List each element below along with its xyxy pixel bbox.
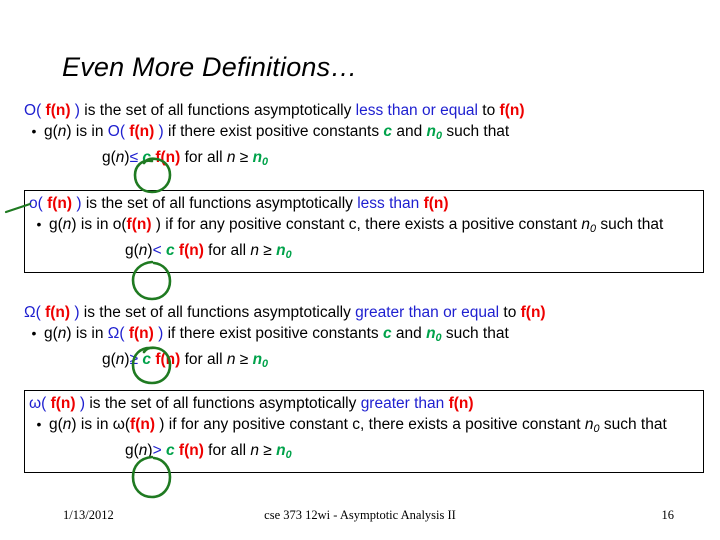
formula-coefficient: c: [166, 242, 175, 259]
formula-operator: ≤: [130, 149, 139, 166]
is-in-text: ) is in: [66, 123, 107, 140]
formula-forall-op: ≥: [235, 351, 252, 368]
constant-n0: n0: [426, 325, 442, 342]
is-in-text: ) is in o(: [71, 216, 126, 233]
headline-tail-text: to: [478, 102, 500, 119]
paren-close: ): [76, 395, 90, 412]
definition-bullet-big-o: • g(n) is in O( f(n) ) if there exist po…: [24, 121, 704, 147]
function-arg: f(n): [129, 123, 154, 140]
condition-text: if there exist positive constants: [168, 123, 383, 140]
constant-n0: n0: [585, 416, 600, 433]
formula-forall-op: ≥: [259, 442, 276, 459]
footer-page-number: 16: [662, 508, 675, 523]
notation-symbol-big-omega: Ω: [24, 304, 36, 321]
headline-lead-text: is the set of all functions asymptotical…: [84, 304, 355, 321]
bullet-marker: •: [24, 121, 44, 142]
bullet-body: g(n) is in o(f(n) ) if for any positive …: [49, 214, 699, 240]
definition-headline-big-o: O( f(n) ) is the set of all functions as…: [24, 100, 704, 121]
formula-forall-op: ≥: [235, 149, 252, 166]
formula-forall-text: for all: [204, 442, 251, 459]
paren-open: (: [36, 102, 45, 119]
function-arg-tail: f(n): [424, 195, 449, 212]
formula-coefficient: c: [142, 149, 151, 166]
function-arg: f(n): [130, 416, 155, 433]
constant-n0-base: n: [426, 325, 435, 342]
constant-n0-base: n: [581, 216, 590, 233]
headline-tail-text: to: [499, 304, 521, 321]
footer-course-title: cse 373 12wi - Asymptotic Analysis II: [0, 508, 720, 523]
formula-bound-subscript: 0: [262, 358, 268, 370]
paren-close: ): [70, 102, 84, 119]
formula-coefficient: c: [166, 442, 175, 459]
such-that-text: such that: [442, 123, 509, 140]
paren-close: ): [152, 216, 166, 233]
condition-text: if for any positive constant c, there ex…: [165, 216, 581, 233]
such-that-text: such that: [600, 416, 667, 433]
definition-headline-little-omega: ω( f(n) ) is the set of all functions as…: [29, 393, 699, 414]
formula-operator: >: [153, 442, 162, 459]
constant-n0: n0: [581, 216, 596, 233]
bullet-marker: •: [29, 214, 49, 235]
headline-lead-text: is the set of all functions asymptotical…: [89, 395, 360, 412]
such-that-text: such that: [596, 216, 663, 233]
slide-footer: 1/13/2012 cse 373 12wi - Asymptotic Anal…: [0, 508, 720, 530]
definition-bullet-little-omega: • g(n) is in ω(f(n) ) if for any positiv…: [29, 414, 699, 440]
formula-coefficient: c: [142, 351, 151, 368]
definition-formula-little-o: g(n)< c f(n) for all n ≥ n0: [29, 240, 699, 266]
formula-bound-base: n: [276, 242, 285, 259]
condition-text: if for any positive constant c, there ex…: [169, 416, 585, 433]
slide-canvas: Even More Definitions… O( f(n) ) is the …: [0, 0, 720, 540]
definition-bullet-big-omega: • g(n) is in Ω( f(n) ) if there exist po…: [24, 323, 704, 349]
formula-bound-n0: n0: [253, 351, 269, 368]
formula-bound-subscript: 0: [286, 249, 292, 261]
definition-headline-little-o: o( f(n) ) is the set of all functions as…: [29, 193, 699, 214]
g-prefix: g(: [49, 216, 63, 233]
formula-function: f(n): [179, 442, 204, 459]
formula-lhs: g(: [102, 149, 116, 166]
definition-formula-big-omega: g(n)≥ c f(n) for all n ≥ n0: [24, 349, 704, 375]
definition-block-big-o: O( f(n) ) is the set of all functions as…: [24, 100, 704, 173]
function-arg-tail: f(n): [521, 304, 546, 321]
headline-lead-text: is the set of all functions asymptotical…: [86, 195, 357, 212]
formula-forall-text: for all: [180, 351, 227, 368]
paren-open: (: [36, 304, 45, 321]
function-arg: f(n): [45, 304, 70, 321]
function-arg: f(n): [51, 395, 76, 412]
paren-close: ): [155, 416, 169, 433]
relation-phrase: greater than: [361, 395, 445, 412]
condition-text: if there exist positive constants: [168, 325, 383, 342]
formula-bound-base: n: [276, 442, 285, 459]
definition-block-big-omega: Ω( f(n) ) is the set of all functions as…: [24, 302, 704, 375]
formula-bound-base: n: [253, 351, 262, 368]
paren-open: (: [41, 395, 50, 412]
definition-formula-big-o: g(n)≤ c f(n) for all n ≥ n0: [24, 147, 704, 173]
bullet-body: g(n) is in Ω( f(n) ) if there exist posi…: [44, 323, 704, 349]
formula-function: f(n): [155, 149, 180, 166]
relation-phrase: greater than or equal: [355, 304, 499, 321]
headline-lead-text: is the set of all functions asymptotical…: [84, 102, 355, 119]
formula-forall-text: for all: [180, 149, 227, 166]
paren-open: (: [38, 195, 47, 212]
formula-bound-subscript: 0: [262, 156, 268, 168]
such-that-text: such that: [442, 325, 509, 342]
page-title: Even More Definitions…: [62, 52, 358, 83]
formula-lhs: g(: [102, 351, 116, 368]
definition-block-little-omega: ω( f(n) ) is the set of all functions as…: [24, 390, 704, 473]
g-prefix: g(: [44, 325, 58, 342]
formula-function: f(n): [155, 351, 180, 368]
paren-close: ): [154, 123, 168, 140]
function-arg: f(n): [127, 216, 152, 233]
constant-n0-base: n: [427, 123, 436, 140]
function-arg-tail: f(n): [449, 395, 474, 412]
is-in-text: ) is in: [66, 325, 107, 342]
formula-forall-var: n: [250, 242, 259, 259]
paren-open: (: [120, 123, 129, 140]
formula-function: f(n): [179, 242, 204, 259]
function-arg: f(n): [47, 195, 72, 212]
formula-bound-base: n: [253, 149, 262, 166]
constant-n0-base: n: [585, 416, 594, 433]
formula-bound-n0: n0: [276, 442, 292, 459]
constant-n0: n0: [427, 123, 443, 140]
notation-symbol-big-o: O: [108, 123, 120, 140]
notation-symbol-big-o: O: [24, 102, 36, 119]
formula-operator: ≥: [130, 351, 139, 368]
definition-headline-big-omega: Ω( f(n) ) is the set of all functions as…: [24, 302, 704, 323]
and-text: and: [392, 123, 426, 140]
bullet-body: g(n) is in ω(f(n) ) if for any positive …: [49, 414, 699, 440]
definition-formula-little-omega: g(n)> c f(n) for all n ≥ n0: [29, 440, 699, 466]
paren-close: ): [72, 195, 86, 212]
notation-symbol-little-omega: ω: [29, 395, 41, 412]
paren-close: ): [154, 325, 168, 342]
and-text: and: [392, 325, 426, 342]
paren-close: ): [70, 304, 84, 321]
formula-lhs: g(: [125, 442, 139, 459]
definition-block-little-o: o( f(n) ) is the set of all functions as…: [24, 190, 704, 273]
g-prefix: g(: [49, 416, 63, 433]
formula-operator: <: [153, 242, 162, 259]
g-prefix: g(: [44, 123, 58, 140]
formula-bound-n0: n0: [253, 149, 269, 166]
relation-phrase: less than or equal: [356, 102, 478, 119]
bullet-marker: •: [24, 323, 44, 344]
function-arg-tail: f(n): [500, 102, 525, 119]
paren-open: (: [119, 325, 128, 342]
constant-c: c: [383, 325, 392, 342]
formula-forall-var: n: [250, 442, 259, 459]
constant-c: c: [383, 123, 392, 140]
definition-bullet-little-o: • g(n) is in o(f(n) ) if for any positiv…: [29, 214, 699, 240]
notation-symbol-big-omega: Ω: [108, 325, 120, 342]
is-in-text: ) is in ω(: [71, 416, 130, 433]
bullet-body: g(n) is in O( f(n) ) if there exist posi…: [44, 121, 704, 147]
formula-forall-text: for all: [204, 242, 251, 259]
formula-bound-n0: n0: [276, 242, 292, 259]
function-arg: f(n): [46, 102, 71, 119]
notation-symbol-little-o: o: [29, 195, 38, 212]
formula-lhs: g(: [125, 242, 139, 259]
function-arg: f(n): [129, 325, 154, 342]
bullet-marker: •: [29, 414, 49, 435]
relation-phrase: less than: [357, 195, 419, 212]
formula-forall-op: ≥: [259, 242, 276, 259]
formula-bound-subscript: 0: [286, 449, 292, 461]
